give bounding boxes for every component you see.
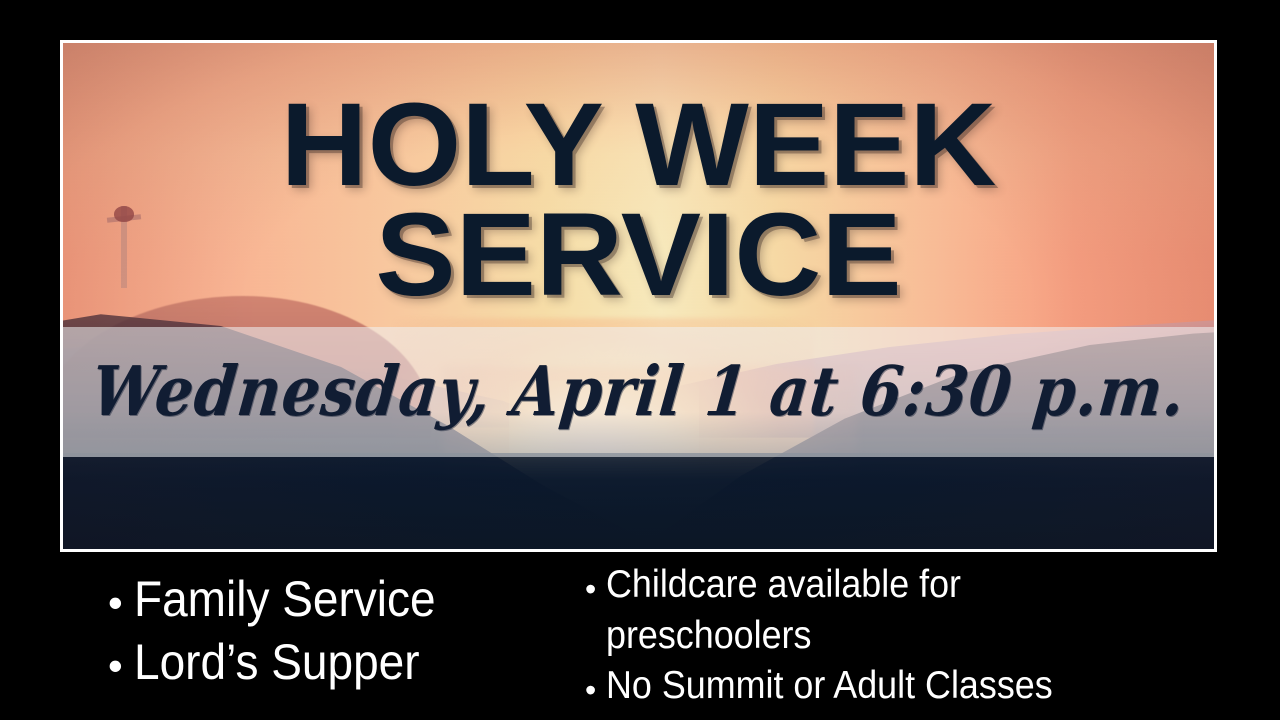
details-list-right: • Childcare available for preschoolers •… [585,560,1280,712]
list-item: • Lord’s Supper [108,631,575,694]
details-section: • Family Service • Lord’s Supper • Child… [0,558,1280,718]
bullet-dot-icon: • [585,674,596,706]
bullet-dot-icon: • [108,582,123,624]
list-item-label: Childcare available for preschoolers [606,560,961,661]
date-banner: Wednesday, April 1 at 6:30 p.m. [63,327,1214,457]
list-item-label: Family Service [134,568,436,631]
details-column-left: • Family Service • Lord’s Supper [0,558,575,694]
list-item: • Childcare available for preschoolers [585,560,1280,661]
list-item: • No Summit or Adult Classes [585,661,1280,712]
cross-icon [107,198,141,288]
list-item-label: Lord’s Supper [134,631,420,694]
list-item: • Family Service [108,568,575,631]
cross-figure [114,206,134,222]
details-list-left: • Family Service • Lord’s Supper [108,568,575,694]
details-column-right: • Childcare available for preschoolers •… [575,558,1280,712]
hero-photo [63,43,1214,549]
bullet-dot-icon: • [585,573,596,605]
presentation-slide: HOLY WEEK SERVICE Wednesday, April 1 at … [0,0,1280,720]
date-banner-text: Wednesday, April 1 at 6:30 p.m. [88,352,1190,432]
valley-floor [63,453,1214,549]
bullet-dot-icon: • [108,645,123,687]
list-item-label: No Summit or Adult Classes [606,661,1053,712]
hero-image-frame: HOLY WEEK SERVICE Wednesday, April 1 at … [60,40,1217,552]
